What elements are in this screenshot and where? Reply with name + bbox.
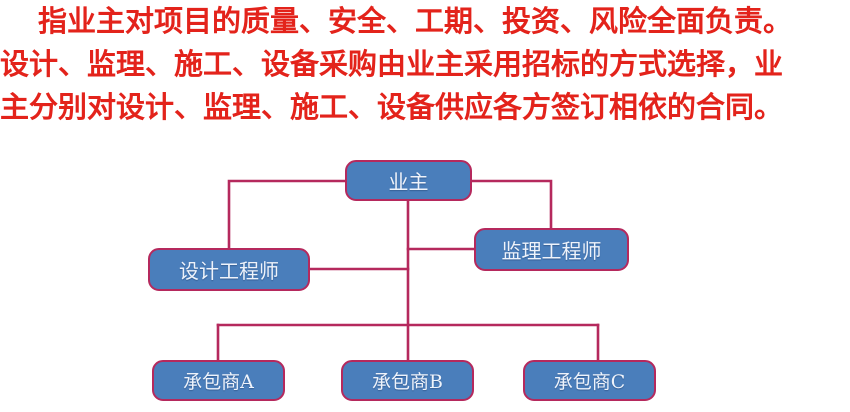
node-supervision-engineer-label: 监理工程师 bbox=[502, 235, 602, 264]
node-contractor-a[interactable]: 承包商A bbox=[152, 360, 285, 401]
node-contractor-b[interactable]: 承包商B bbox=[341, 360, 474, 401]
node-supervision-engineer[interactable]: 监理工程师 bbox=[474, 228, 629, 271]
edge-owner-design bbox=[229, 181, 345, 248]
heading-line-2: 设计、监理、施工、设备采购由业主采用招标的方式选择，业 bbox=[0, 43, 850, 86]
slide-canvas: 指业主对项目的质量、安全、工期、投资、风险全面负责。 设计、监理、施工、设备采购… bbox=[0, 0, 850, 412]
heading-line-3: 主分别对设计、监理、施工、设备供应各方签订相依的合同。 bbox=[0, 86, 850, 129]
organization-chart: 业主 设计工程师 监理工程师 承包商A 承包商B 承包商C bbox=[0, 140, 850, 412]
node-owner[interactable]: 业主 bbox=[345, 160, 472, 201]
node-contractor-b-label: 承包商B bbox=[372, 367, 443, 394]
heading-paragraph: 指业主对项目的质量、安全、工期、投资、风险全面负责。 设计、监理、施工、设备采购… bbox=[0, 0, 850, 140]
node-design-engineer-label: 设计工程师 bbox=[179, 255, 279, 284]
heading-line-1: 指业主对项目的质量、安全、工期、投资、风险全面负责。 bbox=[0, 0, 850, 43]
node-design-engineer[interactable]: 设计工程师 bbox=[148, 248, 310, 291]
node-owner-label: 业主 bbox=[389, 166, 429, 195]
node-contractor-c-label: 承包商C bbox=[554, 367, 626, 394]
node-contractor-c[interactable]: 承包商C bbox=[523, 360, 656, 401]
node-contractor-a-label: 承包商A bbox=[183, 367, 254, 394]
edge-owner-supervise bbox=[472, 181, 551, 228]
